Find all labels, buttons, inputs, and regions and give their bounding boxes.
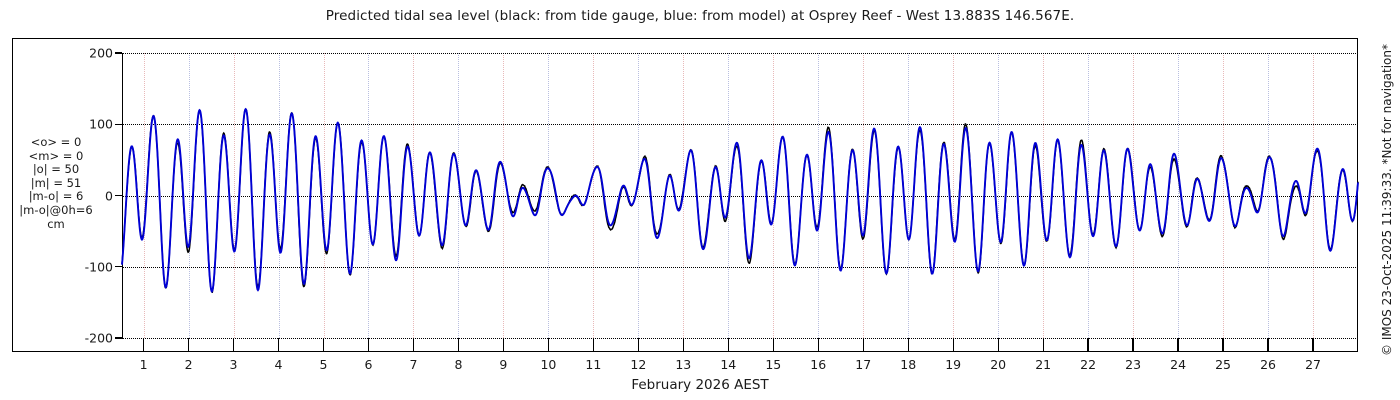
y-tick-label: 200 <box>89 46 113 61</box>
x-tick-label: 14 <box>720 357 736 372</box>
x-tick-label: 27 <box>1305 357 1321 372</box>
y-tick-label: -100 <box>85 259 113 274</box>
y-tick-label: -200 <box>85 331 113 346</box>
x-tick-label: 22 <box>1080 357 1096 372</box>
x-tick-label: 6 <box>364 357 372 372</box>
x-tick-label: 24 <box>1170 357 1186 372</box>
y-tick-mark <box>115 266 122 267</box>
x-tick-mark <box>863 338 864 351</box>
chart-title: Predicted tidal sea level (black: from t… <box>0 8 1400 24</box>
x-tick-label: 21 <box>1035 357 1051 372</box>
x-tick-mark <box>1267 338 1268 351</box>
x-tick-label: 9 <box>499 357 507 372</box>
stat-units: cm <box>0 218 112 232</box>
x-axis-line <box>12 351 1358 352</box>
x-tick-label: 11 <box>585 357 601 372</box>
x-tick-mark <box>188 338 189 351</box>
x-tick-label: 2 <box>185 357 193 372</box>
x-tick-mark <box>1087 338 1088 351</box>
stat-abs-obs: |o| = 50 <box>0 163 112 177</box>
x-tick-mark <box>773 338 774 351</box>
x-tick-label: 3 <box>230 357 238 372</box>
x-tick-mark <box>1312 338 1313 351</box>
x-axis-label: February 2026 AEST <box>0 377 1400 393</box>
x-tick-mark <box>953 338 954 351</box>
x-tick-label: 16 <box>810 357 826 372</box>
x-tick-label: 1 <box>140 357 148 372</box>
x-tick-mark <box>233 338 234 351</box>
x-tick-label: 15 <box>765 357 781 372</box>
stat-mean-model: <m> = 0 <box>0 150 112 164</box>
x-tick-mark <box>368 338 369 351</box>
y-tick-mark <box>115 337 122 338</box>
x-tick-mark <box>1043 338 1044 351</box>
x-tick-mark <box>413 338 414 351</box>
x-tick-label: 17 <box>855 357 871 372</box>
x-tick-label: 20 <box>990 357 1006 372</box>
tide-series-plot <box>122 53 1358 338</box>
x-tick-mark <box>683 338 684 351</box>
x-tick-mark <box>503 338 504 351</box>
x-tick-label: 13 <box>675 357 691 372</box>
x-tick-mark <box>998 338 999 351</box>
statistics-annotation-block: <o> = 0 <m> = 0 |o| = 50 |m| = 51 |m-o| … <box>0 136 112 231</box>
y-tick-mark <box>115 195 122 196</box>
y-tick-mark <box>115 124 122 125</box>
series-line-model <box>122 109 1358 291</box>
y-tick-mark <box>115 52 122 53</box>
stat-abs-diff: |m-o| = 6 <box>0 190 112 204</box>
stat-abs-diff-0h: |m-o|@0h=6 <box>0 204 112 218</box>
y-tick-label: 100 <box>89 117 113 132</box>
x-tick-mark <box>143 338 144 351</box>
plot-area <box>122 53 1358 338</box>
x-tick-label: 7 <box>409 357 417 372</box>
x-tick-mark <box>548 338 549 351</box>
x-tick-mark <box>908 338 909 351</box>
stat-abs-model: |m| = 51 <box>0 177 112 191</box>
x-tick-mark <box>1177 338 1178 351</box>
x-tick-label: 25 <box>1215 357 1231 372</box>
x-tick-mark <box>638 338 639 351</box>
x-tick-label: 18 <box>900 357 916 372</box>
x-tick-mark <box>818 338 819 351</box>
stat-mean-obs: <o> = 0 <box>0 136 112 150</box>
x-tick-mark <box>458 338 459 351</box>
x-tick-label: 23 <box>1125 357 1141 372</box>
horizontal-gridline <box>122 338 1358 339</box>
x-tick-label: 5 <box>320 357 328 372</box>
copyright-notice: © IMOS 23-Oct-2025 11:39:33. *Not for na… <box>1376 0 1398 400</box>
x-tick-label: 10 <box>540 357 556 372</box>
x-tick-mark <box>593 338 594 351</box>
x-tick-label: 4 <box>275 357 283 372</box>
copyright-text: © IMOS 23-Oct-2025 11:39:33. *Not for na… <box>1380 44 1394 356</box>
x-tick-mark <box>728 338 729 351</box>
x-tick-mark <box>323 338 324 351</box>
x-tick-label: 12 <box>630 357 646 372</box>
x-tick-label: 26 <box>1260 357 1276 372</box>
x-tick-mark <box>1222 338 1223 351</box>
x-tick-mark <box>1132 338 1133 351</box>
y-tick-label: 0 <box>105 188 113 203</box>
x-tick-mark <box>278 338 279 351</box>
x-tick-label: 8 <box>454 357 462 372</box>
x-tick-label: 19 <box>945 357 961 372</box>
